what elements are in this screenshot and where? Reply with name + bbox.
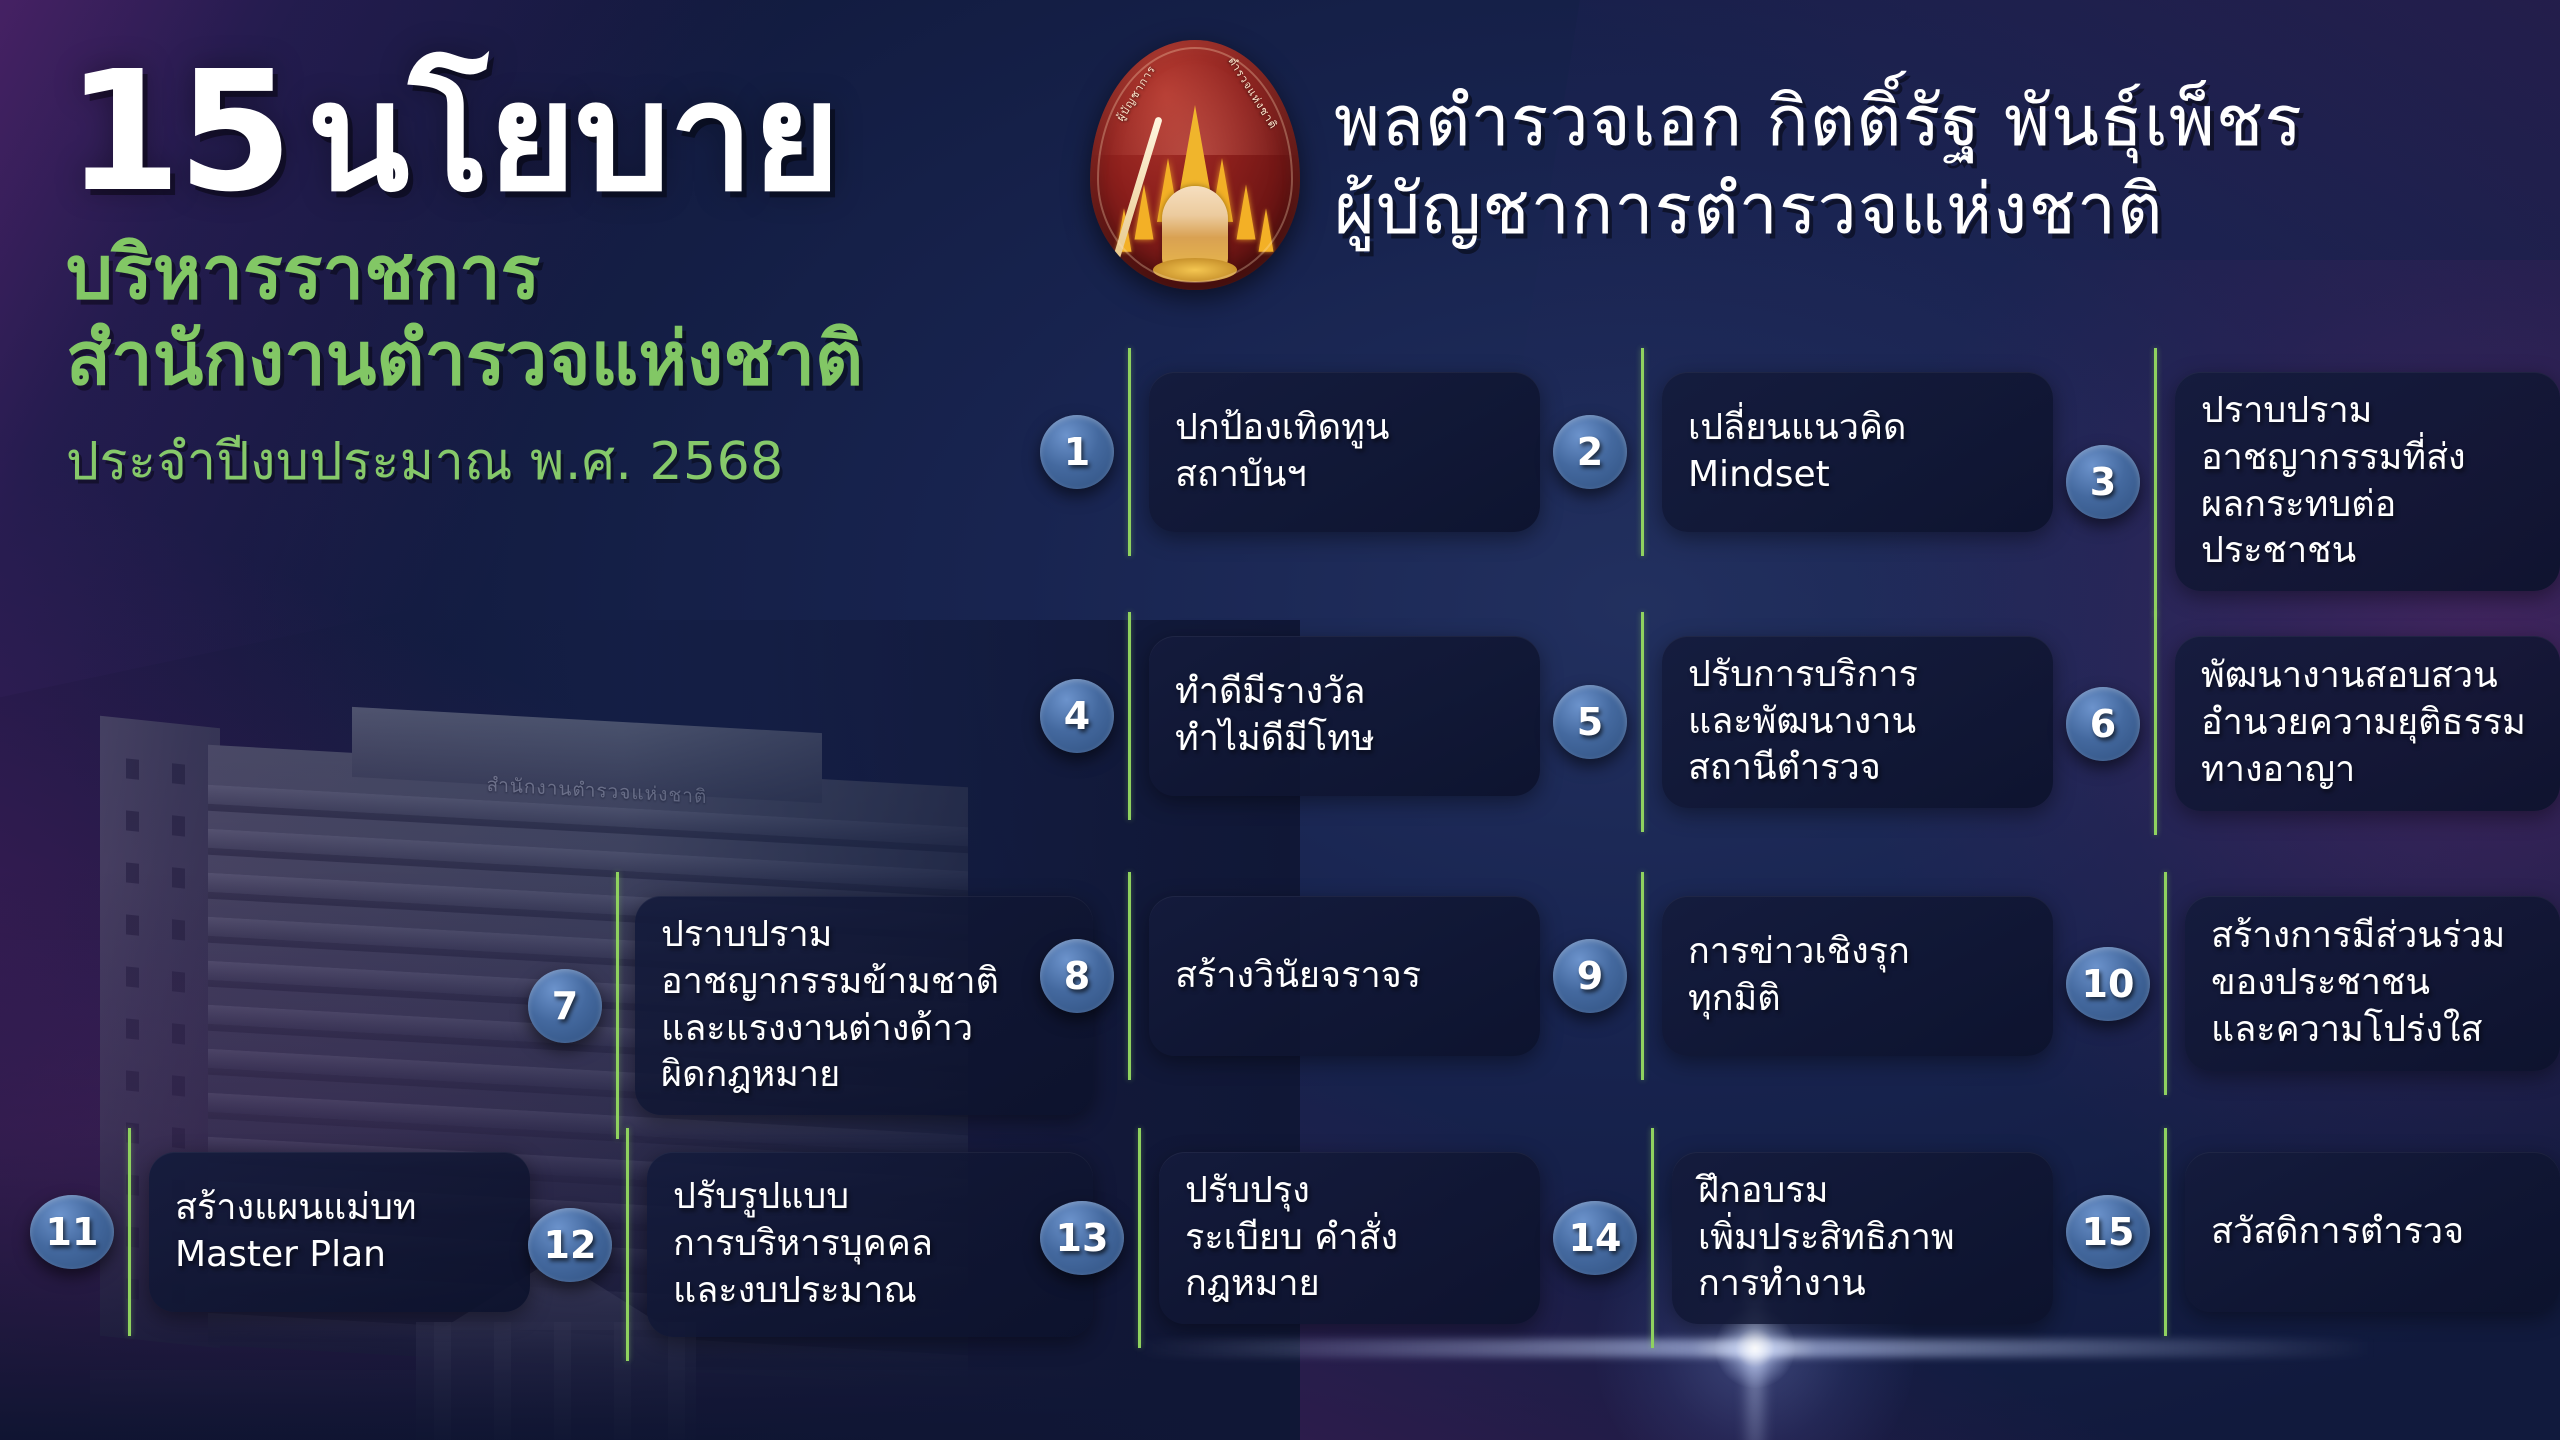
header-left: 15นโยบาย บริหารราชการ สำนักงานตำรวจแห่งช…: [66, 48, 1086, 502]
policy-card[interactable]: ปราบปราม อาชญากรรมที่ส่ง ผลกระทบต่อประชา…: [2175, 372, 2560, 591]
subtitle-line-2: สำนักงานตำรวจแห่งชาติ: [66, 317, 1086, 403]
policy-label: การข่าวเชิงรุก ทุกมิติ: [1688, 929, 1910, 1023]
subtitle: บริหารราชการ สำนักงานตำรวจแห่งชาติ: [66, 231, 1086, 403]
header-right: ผู้บัญชาการ ตำรวจแห่งชาติ พลตำรวจเอก กิต…: [1090, 40, 2303, 290]
policy-card[interactable]: สร้างวินัยจราจร: [1149, 896, 1540, 1056]
chief-position: ผู้บัญชาการตำรวจแห่งชาติ: [1334, 167, 2303, 251]
policy-card[interactable]: ปกป้องเทิดทูน สถาบันฯ: [1149, 372, 1540, 532]
infographic-poster: สำนักงานตำรวจแห่งชาติ 15นโยบาย บริหารราช…: [0, 0, 2560, 1440]
policy-card[interactable]: เปลี่ยนแนวคิด Mindset: [1662, 372, 2053, 532]
page-title-word: นโยบาย: [307, 51, 839, 225]
policy-label: สร้างการมีส่วนร่วม ของประชาชน และความโปร…: [2211, 913, 2505, 1053]
policy-card[interactable]: ปรับปรุง ระเบียบ คำสั่ง กฎหมาย: [1159, 1152, 1540, 1324]
policy-label: ปกป้องเทิดทูน สถาบันฯ: [1175, 405, 1389, 499]
policy-item-13[interactable]: 13 ปรับปรุง ระเบียบ คำสั่ง กฎหมาย: [1040, 1128, 1540, 1348]
policy-label: เปลี่ยนแนวคิด Mindset: [1688, 405, 1906, 499]
policy-item-9[interactable]: 9 การข่าวเชิงรุก ทุกมิติ: [1553, 872, 2053, 1080]
policy-card[interactable]: ปรับรูปแบบ การบริหารบุคคล และงบประมาณ: [647, 1152, 1093, 1337]
policy-item-11[interactable]: 11 สร้างแผนแม่บท Master Plan: [30, 1128, 530, 1336]
policy-number-badge: 4: [1040, 679, 1114, 753]
policy-divider: [1641, 612, 1644, 832]
policy-label: ปราบปราม อาชญากรรมที่ส่ง ผลกระทบต่อประชา…: [2201, 388, 2534, 575]
policy-card[interactable]: การข่าวเชิงรุก ทุกมิติ: [1662, 896, 2053, 1056]
policy-card[interactable]: ปรับการบริการ และพัฒนางาน สถานีตำรวจ: [1662, 636, 2053, 808]
policy-card[interactable]: พัฒนางานสอบสวน อำนวยความยุติธรรม ทางอาญา: [2175, 636, 2560, 811]
policy-label: สร้างวินัยจราจร: [1175, 953, 1421, 1000]
policy-divider: [1641, 872, 1644, 1080]
policy-label: ทำดีมีรางวัล ทำไม่ดีมีโทษ: [1175, 669, 1375, 763]
policy-card[interactable]: ฝึกอบรม เพิ่มประสิทธิภาพ การทำงาน: [1672, 1152, 2053, 1324]
policy-item-4[interactable]: 4 ทำดีมีรางวัล ทำไม่ดีมีโทษ: [1040, 612, 1540, 820]
policy-card[interactable]: สวัสดิการตำรวจ: [2185, 1152, 2560, 1312]
policy-count: 15: [66, 36, 289, 229]
policy-number-badge: 5: [1553, 685, 1627, 759]
policy-item-8[interactable]: 8 สร้างวินัยจราจร: [1040, 872, 1540, 1080]
policy-label: สวัสดิการตำรวจ: [2211, 1209, 2464, 1256]
policy-item-6[interactable]: 6 พัฒนางานสอบสวน อำนวยความยุติธรรม ทางอา…: [2066, 612, 2560, 835]
policy-number-badge: 2: [1553, 415, 1627, 489]
policy-item-2[interactable]: 2 เปลี่ยนแนวคิด Mindset: [1553, 348, 2053, 556]
policy-item-1[interactable]: 1 ปกป้องเทิดทูน สถาบันฯ: [1040, 348, 1540, 556]
policy-item-12[interactable]: 12 ปรับรูปแบบ การบริหารบุคคล และงบประมาณ: [528, 1128, 1093, 1361]
policy-number-badge: 6: [2066, 687, 2140, 761]
policy-card[interactable]: ปราบปราม อาชญากรรมข้ามชาติ และแรงงานต่าง…: [635, 896, 1093, 1115]
page-title: 15นโยบาย: [66, 48, 1086, 217]
policy-card[interactable]: สร้างการมีส่วนร่วม ของประชาชน และความโปร…: [2185, 896, 2560, 1071]
policy-label: พัฒนางานสอบสวน อำนวยความยุติธรรม ทางอาญา: [2201, 653, 2526, 793]
policy-number-badge: 13: [1040, 1201, 1124, 1275]
policy-number-badge: 8: [1040, 939, 1114, 1013]
policy-label: ปรับรูปแบบ การบริหารบุคคล และงบประมาณ: [673, 1174, 933, 1314]
policy-label: ปรับปรุง ระเบียบ คำสั่ง กฎหมาย: [1185, 1168, 1398, 1308]
policy-item-10[interactable]: 10 สร้างการมีส่วนร่วม ของประชาชน และความ…: [2066, 872, 2560, 1095]
policy-number-badge: 11: [30, 1195, 114, 1269]
policy-item-3[interactable]: 3 ปราบปราม อาชญากรรมที่ส่ง ผลกระทบต่อประ…: [2066, 348, 2560, 615]
subtitle-line-1: บริหารราชการ: [66, 231, 1086, 317]
policy-divider: [2164, 1128, 2167, 1336]
policy-divider: [1651, 1128, 1654, 1348]
royal-thai-police-emblem-icon: ผู้บัญชาการ ตำรวจแห่งชาติ: [1090, 40, 1300, 290]
policy-divider: [1641, 348, 1644, 556]
policy-divider: [1128, 612, 1131, 820]
policy-card[interactable]: ทำดีมีรางวัล ทำไม่ดีมีโทษ: [1149, 636, 1540, 796]
policy-divider: [2154, 612, 2157, 835]
policy-divider: [616, 872, 619, 1139]
policy-label: ฝึกอบรม เพิ่มประสิทธิภาพ การทำงาน: [1698, 1168, 1955, 1308]
policy-divider: [1128, 872, 1131, 1080]
policy-number-badge: 3: [2066, 445, 2140, 519]
policy-number-badge: 12: [528, 1208, 612, 1282]
policy-number-badge: 10: [2066, 947, 2150, 1021]
policy-label: ปรับการบริการ และพัฒนางาน สถานีตำรวจ: [1688, 652, 1918, 792]
policy-number-badge: 9: [1553, 939, 1627, 1013]
chief-info: พลตำรวจเอก กิตติ์รัฐ พันธุ์เพ็ชร ผู้บัญช…: [1334, 79, 2303, 251]
policy-divider: [1138, 1128, 1141, 1348]
policy-divider: [2164, 872, 2167, 1095]
policy-item-5[interactable]: 5 ปรับการบริการ และพัฒนางาน สถานีตำรวจ: [1553, 612, 2053, 832]
policy-divider: [626, 1128, 629, 1361]
policy-item-14[interactable]: 14 ฝึกอบรม เพิ่มประสิทธิภาพ การทำงาน: [1553, 1128, 2053, 1348]
policy-divider: [128, 1128, 131, 1336]
policy-card[interactable]: สร้างแผนแม่บท Master Plan: [149, 1152, 530, 1312]
chief-name: พลตำรวจเอก กิตติ์รัฐ พันธุ์เพ็ชร: [1334, 79, 2303, 163]
policy-number-badge: 7: [528, 969, 602, 1043]
policy-label: ปราบปราม อาชญากรรมข้ามชาติ และแรงงานต่าง…: [661, 912, 999, 1099]
policy-label: สร้างแผนแม่บท Master Plan: [175, 1185, 417, 1279]
fiscal-year-label: ประจำปีงบประมาณ พ.ศ. 2568: [66, 419, 1086, 502]
policy-number-badge: 14: [1553, 1201, 1637, 1275]
policy-number-badge: 15: [2066, 1195, 2150, 1269]
policy-item-15[interactable]: 15 สวัสดิการตำรวจ: [2066, 1128, 2560, 1336]
policy-item-7[interactable]: 7 ปราบปราม อาชญากรรมข้ามชาติ และแรงงานต่…: [528, 872, 1093, 1139]
policy-divider: [2154, 348, 2157, 615]
policy-divider: [1128, 348, 1131, 556]
